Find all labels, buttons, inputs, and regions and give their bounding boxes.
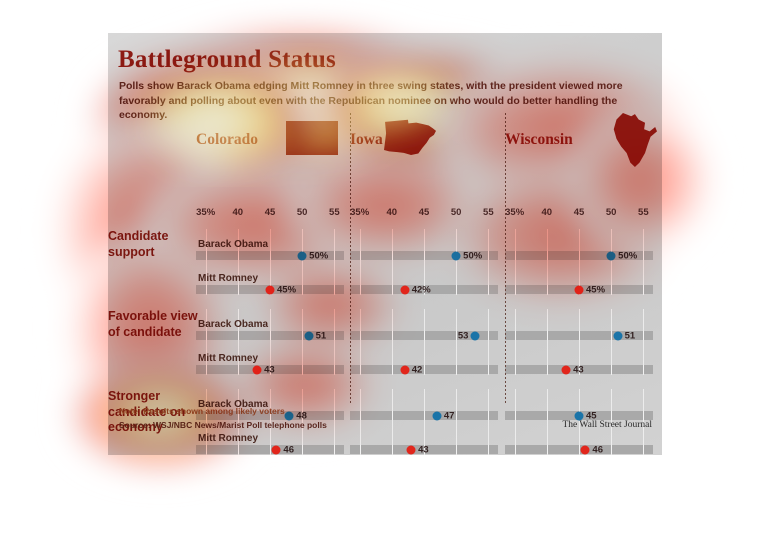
gridline xyxy=(643,411,644,420)
column-divider xyxy=(350,113,351,403)
data-point-romney xyxy=(253,365,262,374)
subtitle-text: Polls show Barack Obama edging Mitt Romn… xyxy=(119,79,647,123)
candidate-name-label: Barack Obama xyxy=(198,239,268,250)
data-point-value-label: 45% xyxy=(277,284,296,295)
gridline xyxy=(488,445,489,454)
gridline xyxy=(270,331,271,340)
gridline xyxy=(547,411,548,420)
data-cell-iowa: 5342 xyxy=(350,309,498,375)
data-point-obama xyxy=(607,251,616,260)
iowa-state-icon xyxy=(384,119,436,155)
gridline xyxy=(488,331,489,340)
gridline xyxy=(643,365,644,374)
data-point-romney xyxy=(575,285,584,294)
data-point-value-label: 50% xyxy=(309,250,328,261)
wisconsin-state-icon xyxy=(611,113,657,167)
gridline xyxy=(515,445,516,454)
gridline xyxy=(302,445,303,454)
gridline xyxy=(611,445,612,454)
data-point-romney xyxy=(266,285,275,294)
state-name-label: Wisconsin xyxy=(505,131,573,149)
state-name-label: Iowa xyxy=(350,131,383,149)
data-point-romney xyxy=(400,365,409,374)
gridline xyxy=(579,331,580,340)
gridline xyxy=(579,251,580,260)
gridline xyxy=(302,365,303,374)
gridline xyxy=(515,251,516,260)
gridline xyxy=(206,251,207,260)
data-point-value-label: 51 xyxy=(625,330,636,341)
gridline xyxy=(456,285,457,294)
gridline xyxy=(392,365,393,374)
data-point-value-label: 46 xyxy=(283,444,294,455)
value-bar-track xyxy=(196,445,344,454)
gridline xyxy=(643,285,644,294)
gridline xyxy=(643,251,644,260)
data-point-value-label: 43 xyxy=(573,364,584,375)
axis-tick-label: 50 xyxy=(297,207,308,218)
gridline xyxy=(334,285,335,294)
data-cell-wisconsin: 5143 xyxy=(505,309,653,375)
candidate-name-label: Mitt Romney xyxy=(198,433,258,444)
axis-tick-label: 55 xyxy=(638,207,649,218)
axis-tick-label: 40 xyxy=(233,207,244,218)
gridline xyxy=(302,331,303,340)
data-point-obama xyxy=(285,411,294,420)
data-point-value-label: 53 xyxy=(458,330,469,341)
gridline xyxy=(206,365,207,374)
data-cell-iowa: 4743 xyxy=(350,389,498,455)
gridline xyxy=(424,251,425,260)
colorado-state-icon xyxy=(286,121,338,155)
state-column-header-wisconsin: Wisconsin xyxy=(505,117,653,165)
axis-tick-label: 45 xyxy=(574,207,585,218)
axis-tick-label: 45 xyxy=(419,207,430,218)
metric-label: Candidate support xyxy=(108,229,206,260)
gridline xyxy=(611,365,612,374)
axis-tick-label: 35% xyxy=(350,207,369,218)
data-point-value-label: 42 xyxy=(412,364,423,375)
gridline xyxy=(238,285,239,294)
gridline xyxy=(611,411,612,420)
gridline xyxy=(547,445,548,454)
data-point-value-label: 47 xyxy=(444,410,455,421)
axis-tick-label: 50 xyxy=(606,207,617,218)
gridline xyxy=(547,251,548,260)
gridline xyxy=(334,331,335,340)
gridline xyxy=(334,365,335,374)
x-axis-iowa: 35%40455055 xyxy=(350,207,498,220)
state-column-header-iowa: Iowa xyxy=(350,117,498,165)
gridline xyxy=(360,445,361,454)
axis-tick-label: 40 xyxy=(542,207,553,218)
axis-tick-label: 50 xyxy=(451,207,462,218)
gridline xyxy=(238,365,239,374)
x-axis-colorado: 35%40455055 xyxy=(196,207,344,220)
data-point-romney xyxy=(581,445,590,454)
gridline xyxy=(488,411,489,420)
gridline xyxy=(392,411,393,420)
data-point-obama xyxy=(298,251,307,260)
data-point-romney xyxy=(407,445,416,454)
data-point-value-label: 45% xyxy=(586,284,605,295)
screenshot-stage: Battleground Status Polls show Barack Ob… xyxy=(0,0,770,548)
gridline xyxy=(547,365,548,374)
gridline xyxy=(456,411,457,420)
chart-note: Note: Results shown among likely voters xyxy=(119,406,285,416)
gridline xyxy=(270,251,271,260)
gridline xyxy=(238,251,239,260)
data-point-value-label: 46 xyxy=(592,444,603,455)
data-point-value-label: 43 xyxy=(264,364,275,375)
gridline xyxy=(424,365,425,374)
data-cell-colorado: Barack Obama51Mitt Romney43 xyxy=(196,309,344,375)
axis-tick-label: 55 xyxy=(329,207,340,218)
gridline xyxy=(360,251,361,260)
value-bar-track xyxy=(505,445,653,454)
gridline xyxy=(360,411,361,420)
gridline xyxy=(547,285,548,294)
gridline xyxy=(515,411,516,420)
gridline xyxy=(392,285,393,294)
data-point-value-label: 50% xyxy=(618,250,637,261)
data-point-obama xyxy=(452,251,461,260)
gridline xyxy=(334,251,335,260)
candidate-name-label: Mitt Romney xyxy=(198,353,258,364)
gridline xyxy=(424,331,425,340)
candidate-name-label: Barack Obama xyxy=(198,319,268,330)
gridline xyxy=(456,365,457,374)
gridline xyxy=(206,285,207,294)
gridline xyxy=(206,445,207,454)
publisher-logo: The Wall Street Journal xyxy=(562,420,652,430)
value-bar-track xyxy=(350,411,498,420)
state-name-label: Colorado xyxy=(196,131,258,149)
axis-tick-label: 40 xyxy=(387,207,398,218)
x-axis-wisconsin: 35%40455055 xyxy=(505,207,653,220)
gridline xyxy=(424,411,425,420)
gridline xyxy=(206,331,207,340)
data-point-romney xyxy=(562,365,571,374)
infographic-panel: Battleground Status Polls show Barack Ob… xyxy=(108,33,662,455)
gridline xyxy=(547,331,548,340)
page-title: Battleground Status xyxy=(118,46,336,74)
data-point-obama xyxy=(575,411,584,420)
gridline xyxy=(334,411,335,420)
gridline xyxy=(643,445,644,454)
state-column-header-colorado: Colorado xyxy=(196,117,344,165)
gridline xyxy=(488,365,489,374)
data-point-obama xyxy=(432,411,441,420)
axis-tick-label: 55 xyxy=(483,207,494,218)
data-cell-wisconsin: 50%45% xyxy=(505,229,653,295)
candidate-name-label: Mitt Romney xyxy=(198,273,258,284)
data-point-value-label: 50% xyxy=(463,250,482,261)
data-point-obama xyxy=(471,331,480,340)
gridline xyxy=(360,365,361,374)
gridline xyxy=(360,331,361,340)
column-divider xyxy=(505,113,506,403)
gridline xyxy=(611,331,612,340)
gridline xyxy=(392,331,393,340)
gridline xyxy=(238,331,239,340)
data-cell-iowa: 50%42% xyxy=(350,229,498,295)
data-point-value-label: 51 xyxy=(316,330,327,341)
gridline xyxy=(515,285,516,294)
gridline xyxy=(579,445,580,454)
data-point-value-label: 43 xyxy=(418,444,429,455)
gridline xyxy=(515,331,516,340)
gridline xyxy=(238,445,239,454)
chart-source: Source: WSJ/NBC News/Marist Poll telepho… xyxy=(119,420,327,430)
gridline xyxy=(611,285,612,294)
gridline xyxy=(334,445,335,454)
gridline xyxy=(643,331,644,340)
gridline xyxy=(392,251,393,260)
data-point-romney xyxy=(272,445,281,454)
data-point-value-label: 42% xyxy=(412,284,431,295)
axis-tick-label: 35% xyxy=(196,207,215,218)
gridline xyxy=(515,365,516,374)
data-point-romney xyxy=(400,285,409,294)
gridline xyxy=(456,445,457,454)
gridline xyxy=(488,285,489,294)
data-cell-colorado: Barack Obama50%Mitt Romney45% xyxy=(196,229,344,295)
data-point-obama xyxy=(304,331,313,340)
metric-label: Favorable view of candidate xyxy=(108,309,206,340)
gridline xyxy=(302,285,303,294)
value-bar-track xyxy=(350,365,498,374)
gridline xyxy=(488,251,489,260)
axis-tick-label: 45 xyxy=(265,207,276,218)
gridline xyxy=(392,445,393,454)
gridline xyxy=(360,285,361,294)
axis-tick-label: 35% xyxy=(505,207,524,218)
data-point-obama xyxy=(613,331,622,340)
gridline xyxy=(270,445,271,454)
